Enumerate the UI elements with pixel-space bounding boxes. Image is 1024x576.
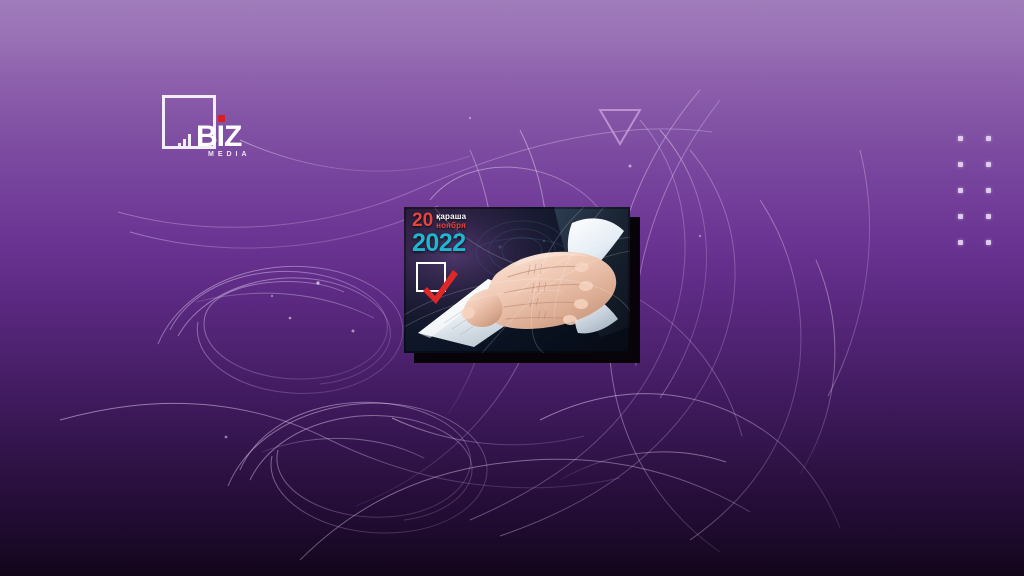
- grid-dot: [958, 214, 963, 219]
- grid-dot: [958, 240, 963, 245]
- grid-dot: [986, 136, 991, 141]
- logo-tagline: MEDIA: [208, 151, 251, 158]
- dot-grid-decoration: [958, 136, 1014, 266]
- grid-dot: [986, 240, 991, 245]
- grid-dot: [958, 162, 963, 167]
- election-article-thumbnail[interactable]: 20 қараша ноября 2022: [404, 207, 630, 353]
- biz-media-logo[interactable]: BIZ MEDIA: [160, 93, 252, 171]
- logo-letter-z: Z: [224, 122, 241, 152]
- grid-dot: [986, 162, 991, 167]
- triangle-outline-icon: [597, 106, 643, 148]
- grid-dot: [986, 214, 991, 219]
- logo-bars-icon: [178, 131, 191, 149]
- slide-canvas: BIZ MEDIA: [0, 0, 1024, 576]
- logo-letter-i: I: [217, 122, 224, 152]
- grid-dot: [986, 188, 991, 193]
- logo-wordmark: BIZ: [196, 122, 241, 152]
- logo-letter-b: B: [196, 122, 217, 152]
- grid-dot: [958, 188, 963, 193]
- ballot-checkmark-icon: [416, 262, 446, 292]
- grid-dot: [958, 136, 963, 141]
- ballot-photo: 20 қараша ноября 2022: [404, 207, 630, 353]
